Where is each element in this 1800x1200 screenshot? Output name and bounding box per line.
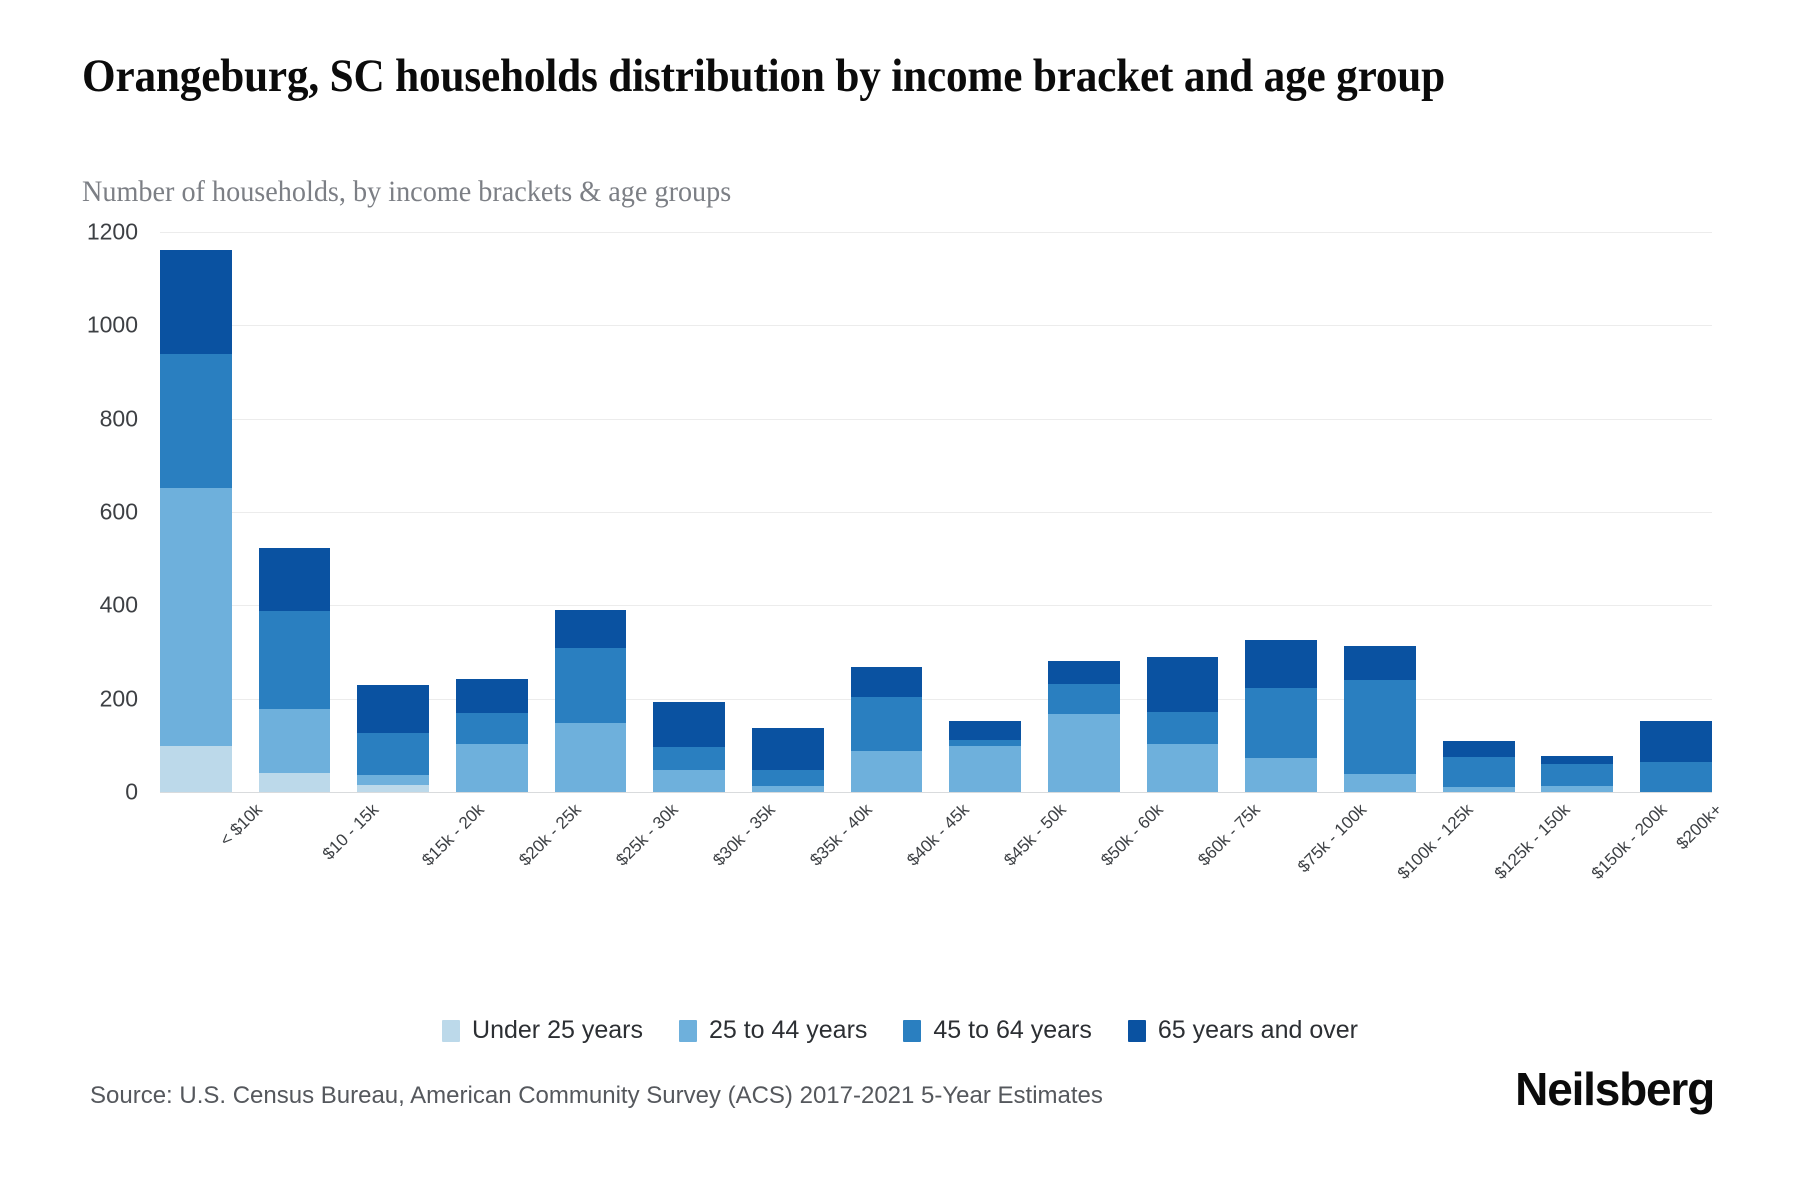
x-tick-label: $50k - 60k (1097, 800, 1167, 870)
x-tick-label: $125k - 150k (1491, 800, 1575, 884)
legend-swatch-icon (442, 1020, 460, 1042)
bar-segment[interactable] (1147, 712, 1219, 744)
legend-swatch-icon (679, 1020, 697, 1042)
bar-column[interactable] (1048, 232, 1120, 792)
bar-segment[interactable] (1245, 640, 1317, 688)
x-tick-label: $20k - 25k (515, 800, 585, 870)
page-subtitle: Number of households, by income brackets… (82, 172, 1492, 211)
y-tick-label: 200 (100, 685, 138, 712)
brand-logo: Neilsberg (1515, 1062, 1714, 1116)
bar-segment[interactable] (555, 610, 627, 648)
x-tick-label: $25k - 30k (612, 800, 682, 870)
bar-segment[interactable] (949, 721, 1021, 740)
x-tick-label: $60k - 75k (1194, 800, 1264, 870)
bar-segment[interactable] (1443, 757, 1515, 786)
legend-item[interactable]: 45 to 64 years (903, 1016, 1091, 1045)
bar-segment[interactable] (259, 611, 331, 709)
grid-area (160, 232, 1712, 792)
bar-segment[interactable] (1048, 714, 1120, 792)
y-tick-label: 600 (100, 499, 138, 526)
bar-segment[interactable] (456, 744, 528, 792)
x-tick-label: $100k - 125k (1394, 800, 1478, 884)
bar-segment[interactable] (851, 697, 923, 751)
bar-segment[interactable] (653, 770, 725, 792)
page-title: Orangeburg, SC households distribution b… (82, 48, 1572, 105)
bar-segment[interactable] (1147, 657, 1219, 712)
bar-segment[interactable] (1344, 680, 1416, 774)
bar-column[interactable] (1541, 232, 1613, 792)
bar-segment[interactable] (949, 746, 1021, 792)
x-tick-label: $10 - 15k (318, 800, 382, 864)
legend-swatch-icon (903, 1020, 921, 1042)
bar-segment[interactable] (555, 648, 627, 723)
bar-segment[interactable] (1344, 646, 1416, 680)
y-tick-label: 800 (100, 405, 138, 432)
x-tick-label: < $10k (216, 800, 267, 851)
bar-segment[interactable] (259, 709, 331, 772)
bar-segment[interactable] (1048, 661, 1120, 684)
x-tick-label: $40k - 45k (903, 800, 973, 870)
bar-segment[interactable] (752, 728, 824, 770)
legend-label: 65 years and over (1158, 1016, 1358, 1045)
bar-segment[interactable] (1541, 764, 1613, 786)
bar-segment[interactable] (357, 775, 429, 785)
bar-column[interactable] (555, 232, 627, 792)
legend-item[interactable]: Under 25 years (442, 1016, 643, 1045)
bar-segment[interactable] (1245, 688, 1317, 758)
bar-segment[interactable] (1048, 684, 1120, 713)
y-axis-labels: 020040060080010001200 (82, 232, 150, 792)
bar-segment[interactable] (1541, 756, 1613, 764)
bar-segment[interactable] (555, 723, 627, 792)
bar-segment[interactable] (357, 785, 429, 792)
bar-segment[interactable] (456, 713, 528, 744)
bar-segment[interactable] (456, 679, 528, 714)
bar-segment[interactable] (1245, 758, 1317, 792)
y-tick-label: 1000 (87, 312, 138, 339)
x-tick-label: $75k - 100k (1294, 800, 1371, 877)
bar-segment[interactable] (1640, 762, 1712, 792)
bar-segment[interactable] (357, 685, 429, 733)
chart-legend: Under 25 years25 to 44 years45 to 64 yea… (0, 1016, 1800, 1045)
bar-column[interactable] (752, 232, 824, 792)
bar-segment[interactable] (752, 770, 824, 786)
bar-segment[interactable] (1640, 721, 1712, 762)
bar-segment[interactable] (160, 746, 232, 792)
x-tick-label: $35k - 40k (806, 800, 876, 870)
legend-item[interactable]: 65 years and over (1128, 1016, 1358, 1045)
bar-segment[interactable] (653, 702, 725, 747)
y-tick-label: 400 (100, 592, 138, 619)
bar-column[interactable] (259, 232, 331, 792)
bar-column[interactable] (357, 232, 429, 792)
bar-segment[interactable] (160, 354, 232, 487)
bar-segment[interactable] (160, 488, 232, 747)
bar-segment[interactable] (259, 773, 331, 792)
bar-segment[interactable] (1443, 787, 1515, 792)
bar-column[interactable] (653, 232, 725, 792)
bar-segment[interactable] (357, 733, 429, 775)
bar-column[interactable] (160, 232, 232, 792)
bar-segment[interactable] (160, 250, 232, 355)
x-axis-labels: < $10k$10 - 15k$15k - 20k$20k - 25k$25k … (160, 800, 1712, 910)
legend-label: 25 to 44 years (709, 1016, 867, 1045)
x-tick-label: $150k - 200k (1588, 800, 1672, 884)
bar-segment[interactable] (752, 786, 824, 792)
bar-column[interactable] (1147, 232, 1219, 792)
legend-label: 45 to 64 years (933, 1016, 1091, 1045)
bar-segment[interactable] (1541, 786, 1613, 792)
bar-segment[interactable] (1147, 744, 1219, 792)
bar-segment[interactable] (1443, 741, 1515, 757)
x-tick-label: $15k - 20k (418, 800, 488, 870)
legend-label: Under 25 years (472, 1016, 643, 1045)
bar-column[interactable] (1443, 232, 1515, 792)
y-tick-label: 1200 (87, 219, 138, 246)
bar-segment[interactable] (1344, 774, 1416, 792)
plot-area: 020040060080010001200 (82, 232, 1712, 792)
bar-segment[interactable] (259, 548, 331, 611)
x-tick-label: $30k - 35k (709, 800, 779, 870)
x-tick-label: $200k+ (1672, 800, 1726, 854)
legend-swatch-icon (1128, 1020, 1146, 1042)
x-tick-label: $45k - 50k (1000, 800, 1070, 870)
source-note: Source: U.S. Census Bureau, American Com… (90, 1082, 1103, 1110)
bar-column[interactable] (851, 232, 923, 792)
bar-segment[interactable] (851, 667, 923, 696)
bar-segment[interactable] (653, 747, 725, 769)
axis-baseline (160, 792, 1712, 793)
y-tick-label: 0 (125, 779, 138, 806)
bar-column[interactable] (949, 232, 1021, 792)
bar-segment[interactable] (851, 751, 923, 792)
bar-column[interactable] (456, 232, 528, 792)
legend-item[interactable]: 25 to 44 years (679, 1016, 867, 1045)
bar-column[interactable] (1640, 232, 1712, 792)
chart-page: Orangeburg, SC households distribution b… (0, 0, 1800, 1200)
bar-series-container (160, 232, 1712, 792)
bar-column[interactable] (1344, 232, 1416, 792)
bar-column[interactable] (1245, 232, 1317, 792)
